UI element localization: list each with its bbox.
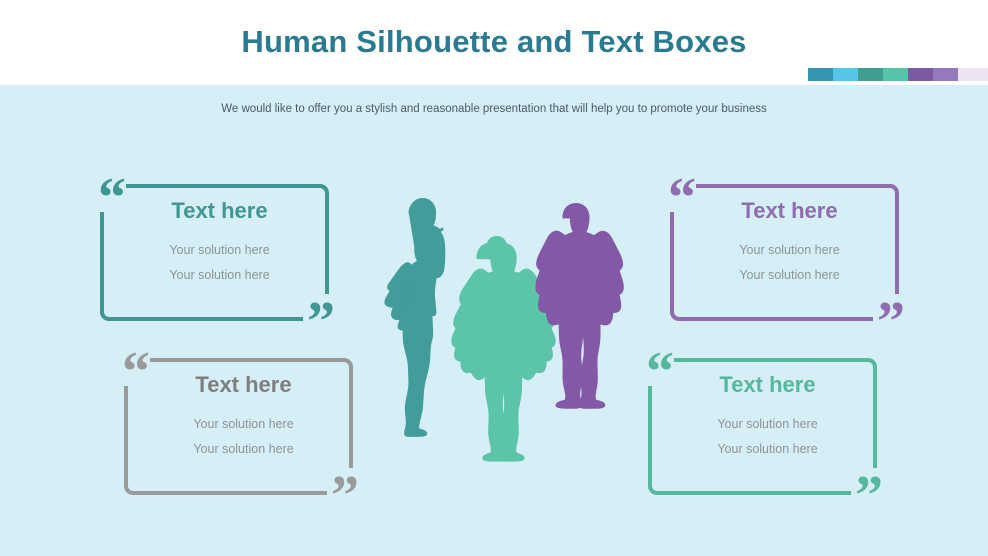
slide-canvas: Human Silhouette and Text Boxes We would… (0, 0, 988, 556)
quote-box-line-1: Your solution here (680, 238, 899, 263)
quote-box-line-1: Your solution here (110, 238, 329, 263)
quote-box-heading: Text here (680, 196, 899, 226)
segment-mint (883, 68, 908, 81)
segment-lavender-pale (958, 68, 988, 81)
page-title: Human Silhouette and Text Boxes (0, 22, 988, 62)
quote-close-icon: ” (855, 468, 883, 524)
quote-box-heading: Text here (110, 196, 329, 226)
quote-box-line-1: Your solution here (134, 412, 353, 437)
quote-box-body: Text here Your solution here Your soluti… (134, 370, 353, 462)
man-arms-crossed-silhouette (535, 203, 623, 409)
quote-box-line-2: Your solution here (658, 437, 877, 462)
quote-box-heading: Text here (658, 370, 877, 400)
quote-box-body: Text here Your solution here Your soluti… (680, 196, 899, 288)
quote-box-line-1: Your solution here (658, 412, 877, 437)
segment-purple-dark (908, 68, 933, 81)
quote-box-line-2: Your solution here (680, 263, 899, 288)
quote-close-icon: ” (331, 468, 359, 524)
human-silhouette-group (372, 198, 630, 468)
woman-arms-crossed-silhouette (384, 198, 445, 437)
slide-subtitle: We would like to offer you a stylish and… (0, 101, 988, 117)
quote-box-top-right[interactable]: “ ” Text here Your solution here Your so… (662, 176, 907, 324)
quote-box-line-2: Your solution here (110, 263, 329, 288)
segment-teal-dark (808, 68, 833, 81)
segment-purple (933, 68, 958, 81)
quote-box-bottom-left[interactable]: “ ” Text here Your solution here Your so… (116, 350, 361, 498)
segment-green-dark (858, 68, 883, 81)
quote-box-top-left[interactable]: “ ” Text here Your solution here Your so… (92, 176, 337, 324)
quote-close-icon: ” (877, 294, 905, 350)
quote-box-heading: Text here (134, 370, 353, 400)
quote-close-icon: ” (307, 294, 335, 350)
quote-box-bottom-right[interactable]: “ ” Text here Your solution here Your so… (640, 350, 885, 498)
quote-box-body: Text here Your solution here Your soluti… (658, 370, 877, 462)
segment-cyan (833, 68, 858, 81)
quote-box-line-2: Your solution here (134, 437, 353, 462)
accent-color-bar (808, 68, 988, 81)
quote-box-body: Text here Your solution here Your soluti… (110, 196, 329, 288)
